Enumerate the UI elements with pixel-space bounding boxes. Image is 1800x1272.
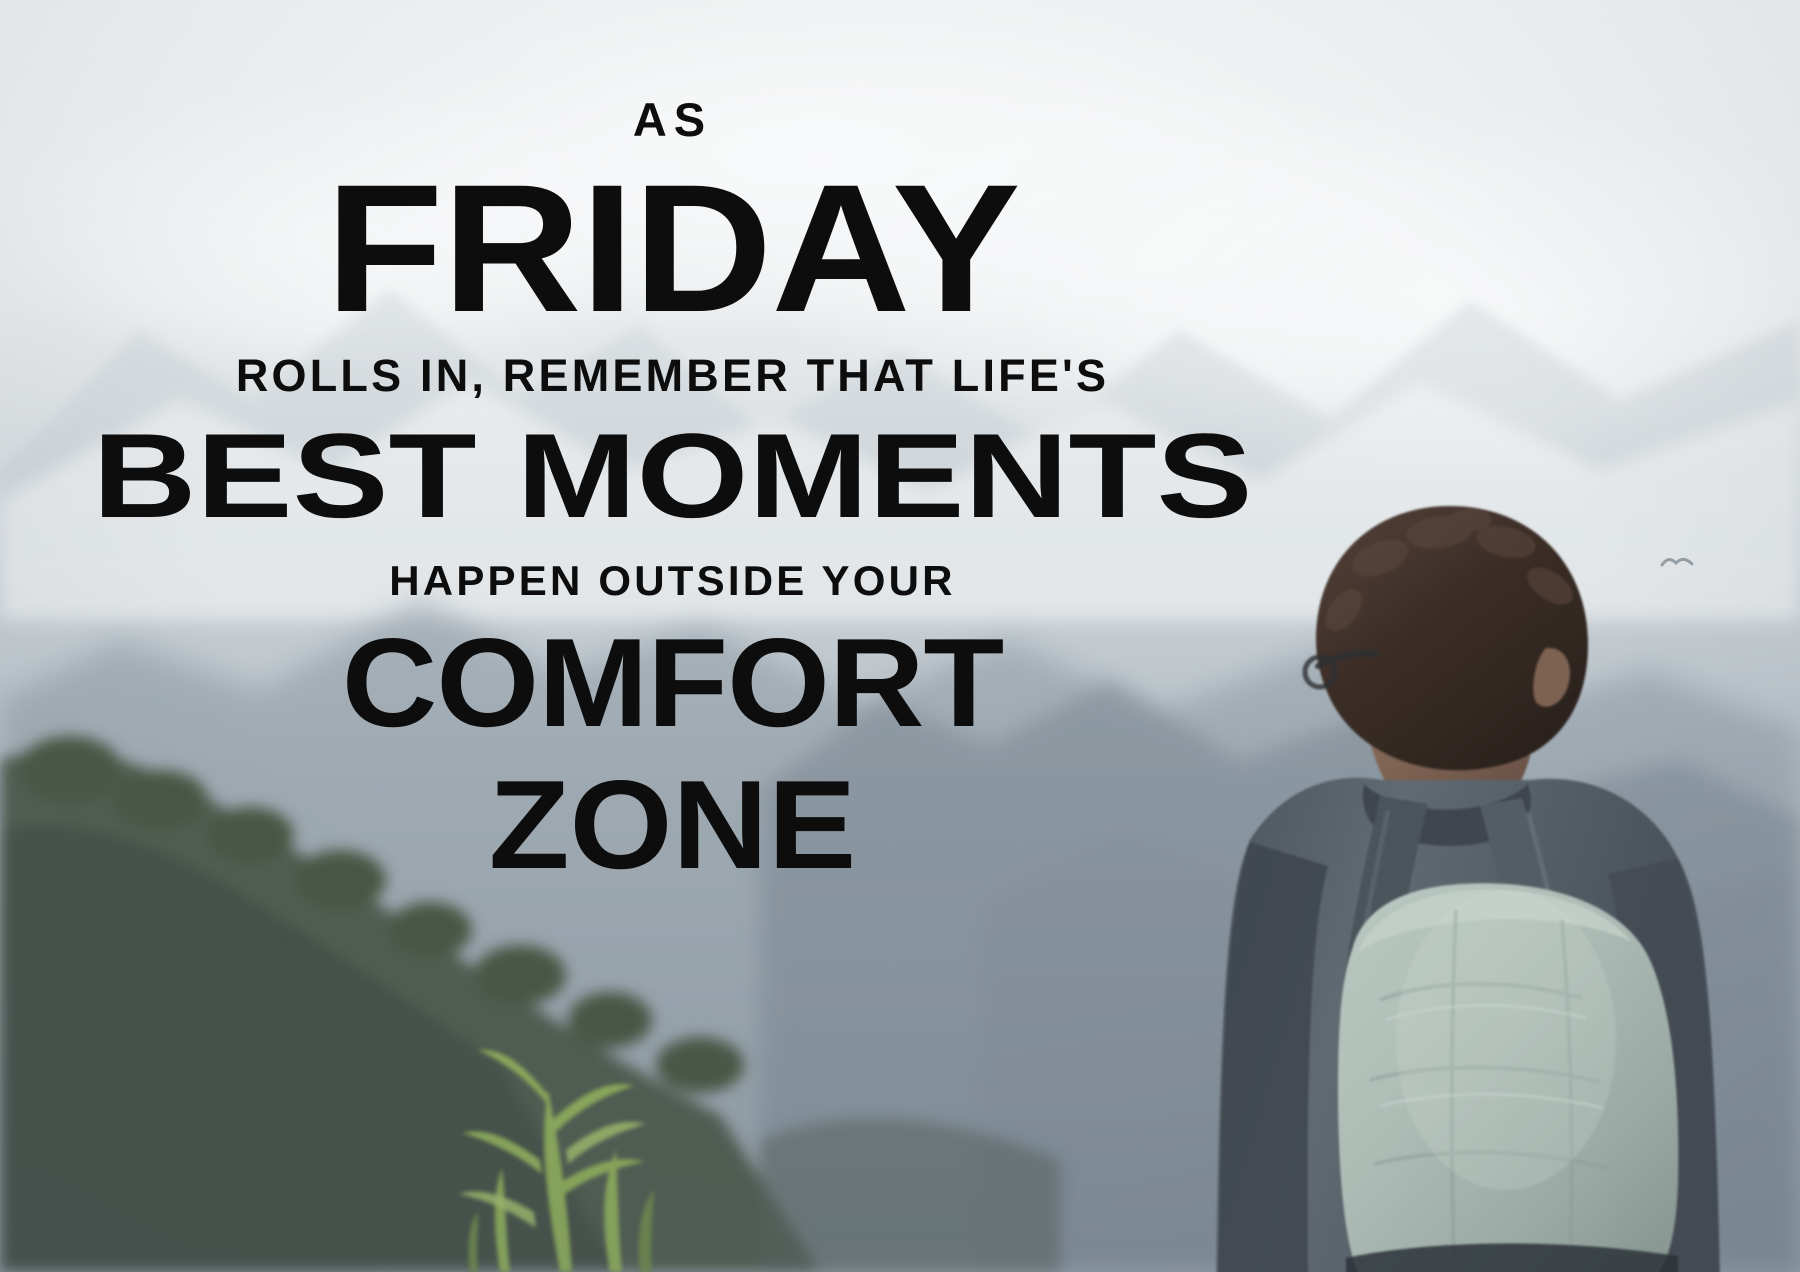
quote-text-block: AS FRIDAY ROLLS IN, REMEMBER THAT LIFE'S… — [0, 96, 1345, 888]
quote-line-rolls: ROLLS IN, REMEMBER THAT LIFE'S — [0, 353, 1345, 398]
quote-line-happen: HAPPEN OUTSIDE YOUR — [0, 560, 1345, 602]
quote-line-zone: ZONE — [0, 762, 1379, 888]
quote-line-friday: FRIDAY — [0, 157, 1385, 339]
quote-line-best: BEST MOMENTS — [0, 416, 1479, 536]
quote-line-as: AS — [0, 96, 1345, 143]
quote-line-comfort: COMFORT — [0, 620, 1379, 746]
quote-poster: AS FRIDAY ROLLS IN, REMEMBER THAT LIFE'S… — [0, 0, 1800, 1272]
